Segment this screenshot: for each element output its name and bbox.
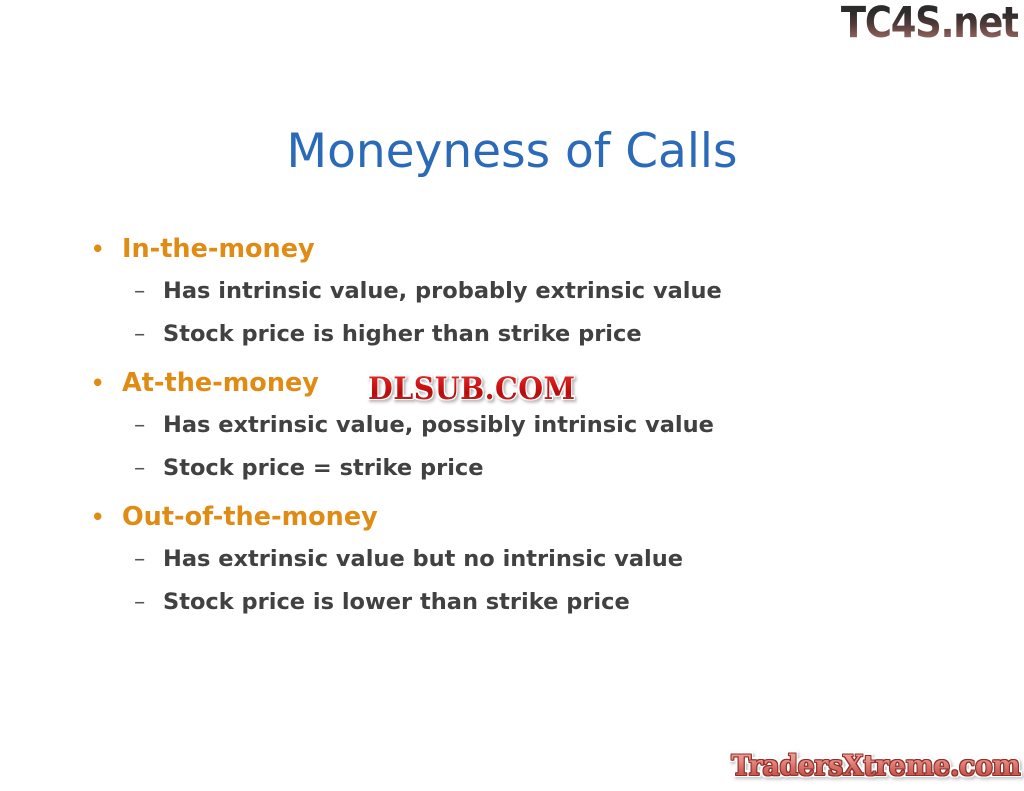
dash-bullet-icon: – [134, 538, 145, 581]
tradersxtreme-footer-logo: TradersXtreme.com [731, 750, 1020, 782]
sub-bullet-label: Has extrinsic value but no intrinsic val… [163, 546, 683, 572]
sub-bullet-item: – Stock price = strike price [86, 447, 966, 490]
sub-bullet-item: – Stock price is lower than strike price [86, 581, 966, 624]
bullet-heading-label: Out-of-the-money [122, 502, 378, 532]
sub-bullet-label: Stock price is higher than strike price [163, 321, 642, 347]
bullet-group-in-the-money: • In-the-money – Has intrinsic value, pr… [86, 228, 966, 356]
dash-bullet-icon: – [134, 581, 145, 624]
sub-bullet-item: – Has intrinsic value, probably extrinsi… [86, 270, 966, 313]
bullet-dot-icon: • [91, 496, 103, 538]
dlsub-watermark: DLSUB.COM [368, 372, 576, 406]
sub-bullet-item: – Has extrinsic value, possibly intrinsi… [86, 404, 966, 447]
bullet-content: • In-the-money – Has intrinsic value, pr… [86, 228, 966, 624]
tc4s-brand-logo: TC4S.net [840, 0, 1018, 46]
bullet-heading-in-the-money: • In-the-money [86, 228, 966, 270]
bullet-dot-icon: • [91, 228, 103, 270]
sub-bullet-item: – Stock price is higher than strike pric… [86, 313, 966, 356]
bullet-dot-icon: • [91, 362, 103, 404]
dash-bullet-icon: – [134, 270, 145, 313]
bullet-group-out-of-the-money: • Out-of-the-money – Has extrinsic value… [86, 496, 966, 624]
sub-bullet-label: Has intrinsic value, probably extrinsic … [163, 278, 722, 304]
bullet-heading-out-of-the-money: • Out-of-the-money [86, 496, 966, 538]
sub-bullet-item: – Has extrinsic value but no intrinsic v… [86, 538, 966, 581]
sub-bullet-label: Stock price = strike price [163, 455, 484, 481]
sub-bullet-label: Has extrinsic value, possibly intrinsic … [163, 412, 714, 438]
dash-bullet-icon: – [134, 404, 145, 447]
page-title: Moneyness of Calls [0, 124, 1024, 180]
sub-bullet-label: Stock price is lower than strike price [163, 589, 630, 615]
dash-bullet-icon: – [134, 313, 145, 356]
bullet-heading-label: In-the-money [122, 234, 315, 264]
dash-bullet-icon: – [134, 447, 145, 490]
slide-canvas: TC4S.net Moneyness of Calls • In-the-mon… [0, 0, 1024, 791]
bullet-heading-label: At-the-money [122, 368, 319, 398]
